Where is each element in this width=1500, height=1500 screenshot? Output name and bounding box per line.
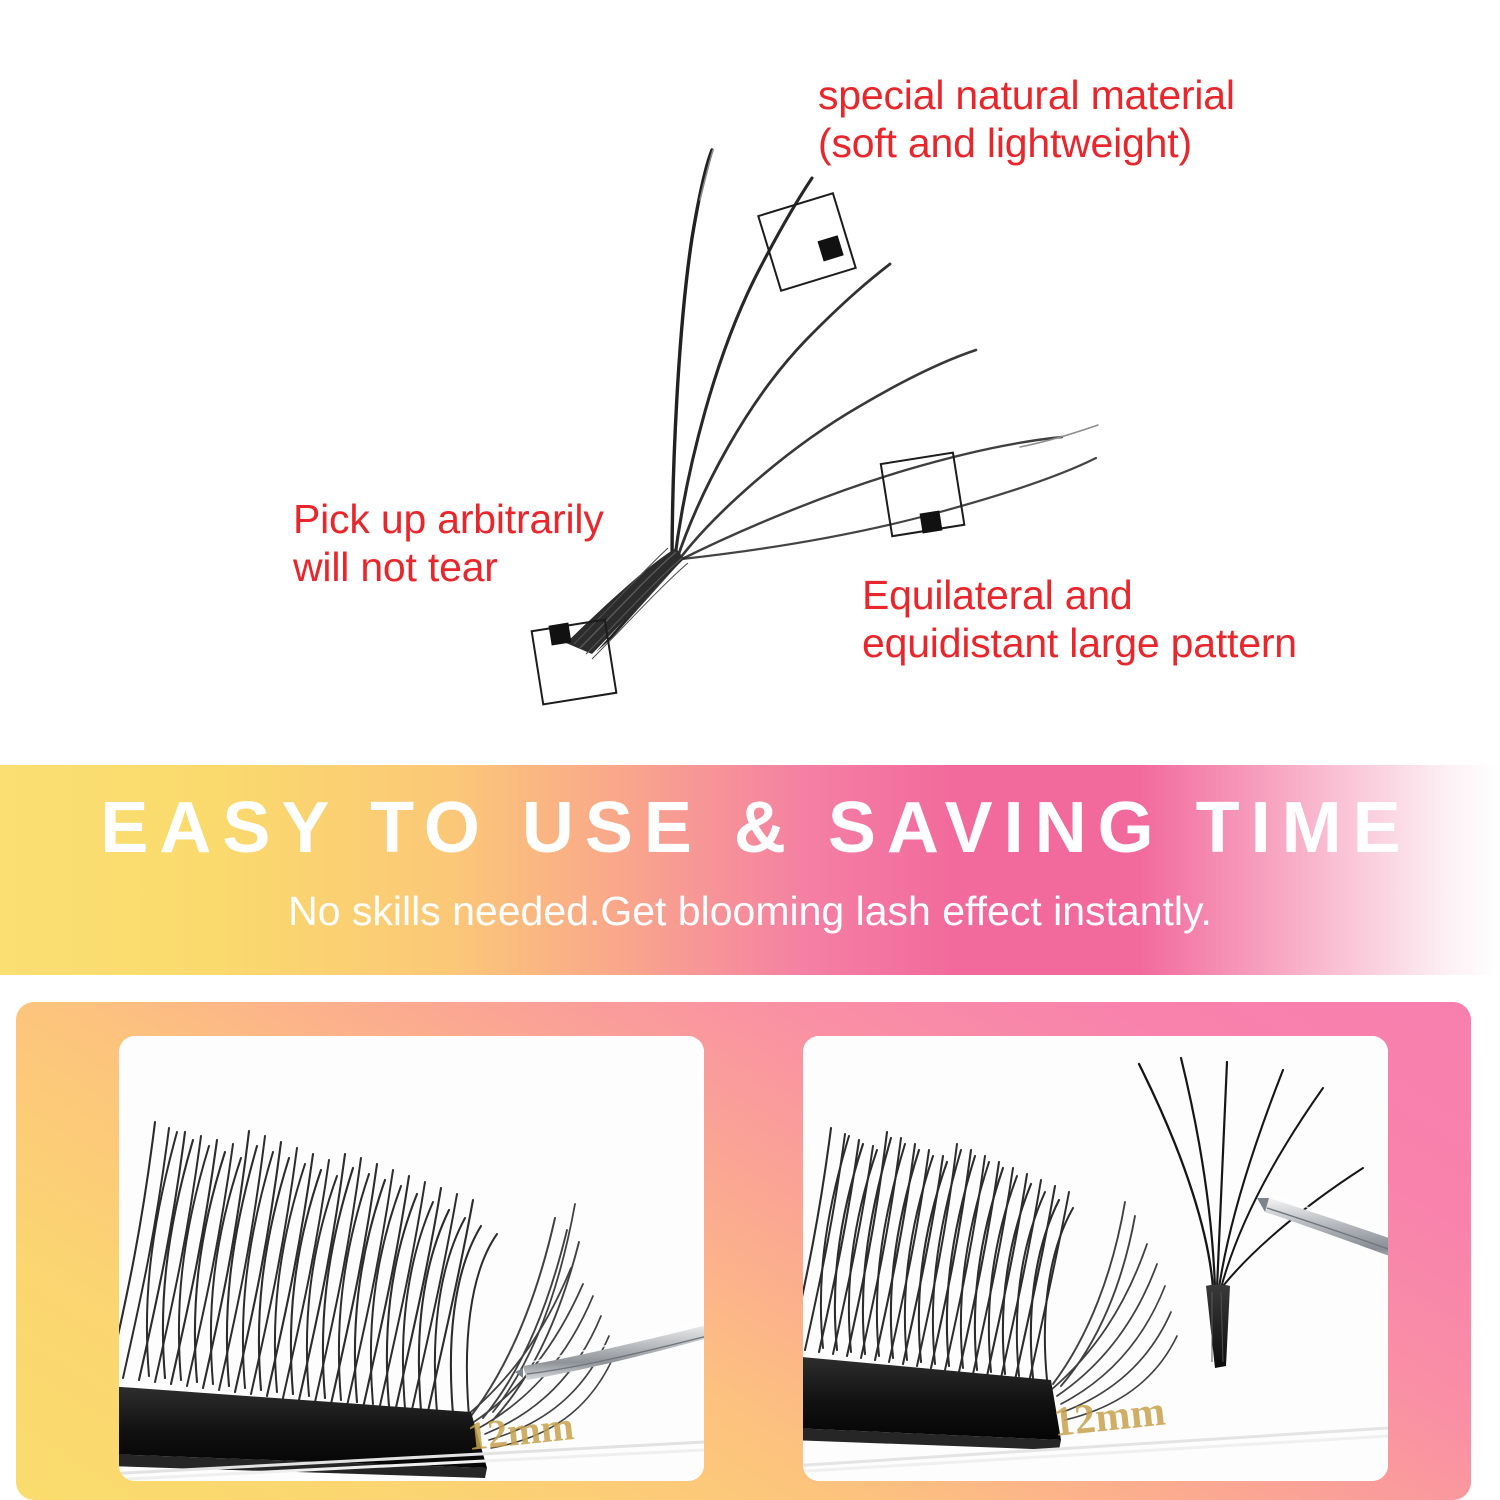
photo-card-lash-tray-with-tweezer: 12mm xyxy=(119,1036,704,1481)
gradient-banner-section: EASY TO USE & SAVING TIME No skills need… xyxy=(0,765,1500,975)
callout-special-natural-material: special natural material (soft and light… xyxy=(818,72,1235,167)
photo-panel-section: 12mm xyxy=(16,1002,1471,1500)
banner-headline: EASY TO USE & SAVING TIME xyxy=(0,787,1500,869)
lash-strand-tip-upper xyxy=(700,150,713,200)
lash-strand-3 xyxy=(676,264,890,562)
lash-strand-2 xyxy=(674,178,812,564)
banner-subheadline: No skills needed.Get blooming lash effec… xyxy=(0,888,1500,935)
lash-tray-with-tweezer-photo: 12mm xyxy=(119,1036,704,1481)
photo-card-lash-fan-pickup: 12mm xyxy=(803,1036,1388,1481)
lash-strand-6 xyxy=(682,458,1096,559)
lash-strand-tip-right xyxy=(1020,425,1098,447)
lash-strand-tips xyxy=(700,150,1098,447)
callout-equilateral-equidistant: Equilateral and equidistant large patter… xyxy=(862,572,1297,667)
hero-diagram-section: special natural material (soft and light… xyxy=(0,0,1500,765)
lash-fan-pickup-photo: 12mm xyxy=(803,1036,1388,1481)
lash-strand-group xyxy=(672,150,1096,566)
lash-strand-1 xyxy=(672,150,712,566)
callout-pick-up-arbitrarily: Pick up arbitrarily will not tear xyxy=(293,496,604,591)
